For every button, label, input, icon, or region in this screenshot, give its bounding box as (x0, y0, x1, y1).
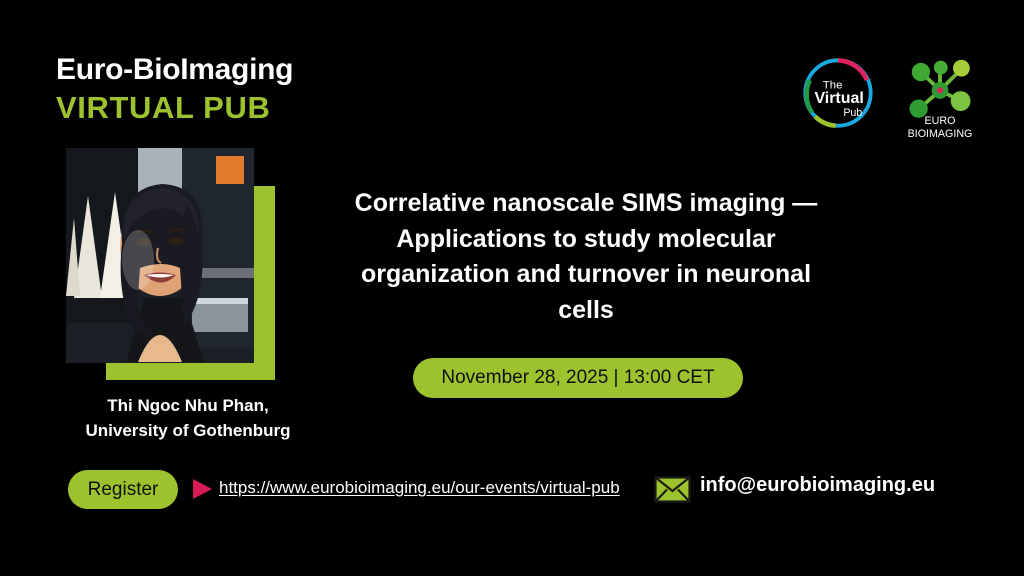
brand-wordmark: Euro-BioImaging VIRTUAL PUB (56, 55, 293, 123)
contact-email[interactable]: info@eurobioimaging.eu (700, 474, 935, 497)
envelope-icon (654, 476, 691, 503)
talk-title-line-3: organization and turnover in neuronal (305, 257, 867, 293)
talk-title-line-4: cells (305, 293, 867, 329)
vp-text-pub: Pub (843, 107, 862, 119)
ebi-text-euro: EURO (925, 115, 956, 127)
poster-canvas: Euro-BioImaging VIRTUAL PUB The Virtual … (0, 0, 1024, 576)
play-triangle-icon (191, 478, 213, 500)
event-date-badge: November 28, 2025 | 13:00 CET (413, 358, 743, 398)
registration-url-link[interactable]: https://www.eurobioimaging.eu/our-events… (219, 478, 620, 498)
speaker-photo-block (66, 148, 275, 380)
talk-title: Correlative nanoscale SIMS imaging — App… (305, 186, 867, 328)
ebi-text-bioimaging: BIOIMAGING (908, 128, 973, 140)
register-button[interactable]: Register (68, 470, 178, 509)
brand-line-virtual-pub: VIRTUAL PUB (56, 92, 293, 123)
talk-title-line-1: Correlative nanoscale SIMS imaging — (305, 186, 867, 222)
euro-bioimaging-logo: EURO BIOIMAGING (898, 55, 982, 141)
speaker-affiliation: University of Gothenburg (28, 419, 348, 444)
speaker-portrait (66, 148, 254, 363)
speaker-name: Thi Ngoc Nhu Phan, (28, 394, 348, 419)
speaker-caption: Thi Ngoc Nhu Phan, University of Gothenb… (28, 394, 348, 443)
logo-group: The Virtual Pub EURO BIOIMAGING (800, 55, 982, 141)
the-virtual-pub-logo: The Virtual Pub (800, 55, 876, 131)
brand-line-euro-bioimaging: Euro-BioImaging (56, 55, 293, 85)
talk-title-line-2: Applications to study molecular (305, 222, 867, 258)
vp-text-virtual: Virtual (814, 90, 863, 107)
